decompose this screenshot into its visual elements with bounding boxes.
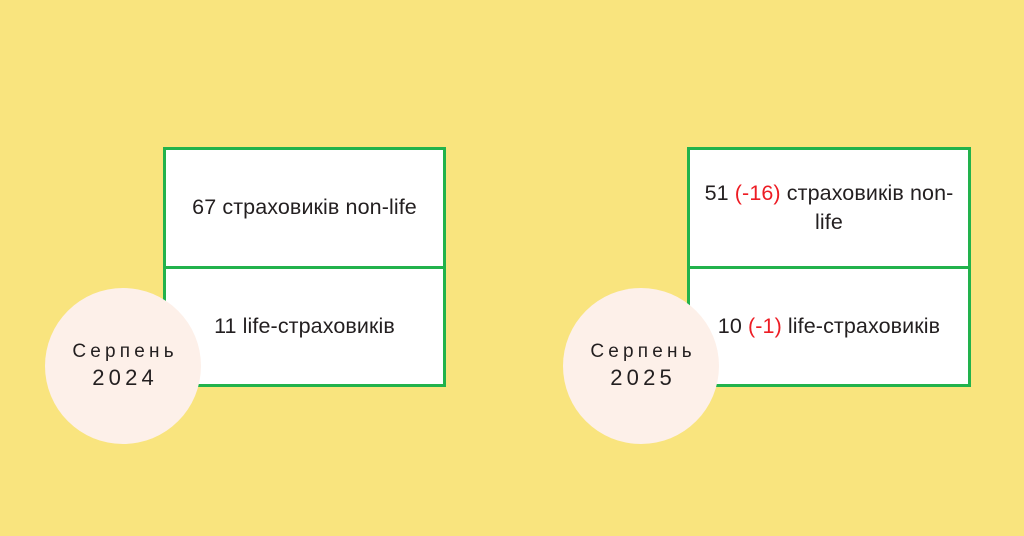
stat-value: 51 <box>705 181 729 205</box>
stat-row-non-life-2024: 67 страховиків non-life <box>166 150 443 269</box>
stat-row-text: 51 (-16) страховиків non-life <box>702 179 956 237</box>
stat-label: life-страховиків <box>243 314 395 338</box>
infographic-canvas: 67 страховиків non-life 11 life-страхови… <box>0 0 1024 536</box>
stat-row-life-2024: 11 life-страховиків <box>166 269 443 385</box>
stat-row-text: 11 life-страховиків <box>214 312 395 341</box>
stat-box-2025: 51 (-16) страховиків non-life 10 (-1) li… <box>687 147 971 387</box>
stat-row-non-life-2025: 51 (-16) страховиків non-life <box>690 150 968 269</box>
stat-value: 67 <box>192 195 216 219</box>
month-badge-year: 2025 <box>606 364 676 392</box>
month-badge-month: Серпень <box>68 340 178 364</box>
stat-label: страховиків non-life <box>787 181 954 234</box>
stat-label: страховиків non-life <box>222 195 417 219</box>
stat-row-text: 67 страховиків non-life <box>192 193 417 222</box>
stat-value: 10 <box>718 314 742 338</box>
stat-row-text: 10 (-1) life-страховиків <box>718 312 940 341</box>
stat-delta: (-16) <box>735 181 781 205</box>
stat-row-life-2025: 10 (-1) life-страховиків <box>690 269 968 385</box>
month-badge-2024: Серпень 2024 <box>45 288 201 444</box>
stat-label: life-страховиків <box>788 314 940 338</box>
stat-delta: (-1) <box>748 314 782 338</box>
stat-box-2024: 67 страховиків non-life 11 life-страхови… <box>163 147 446 387</box>
month-badge-year: 2024 <box>88 364 158 392</box>
stat-value: 11 <box>214 314 237 338</box>
month-badge-month: Серпень <box>586 340 696 364</box>
month-badge-2025: Серпень 2025 <box>563 288 719 444</box>
